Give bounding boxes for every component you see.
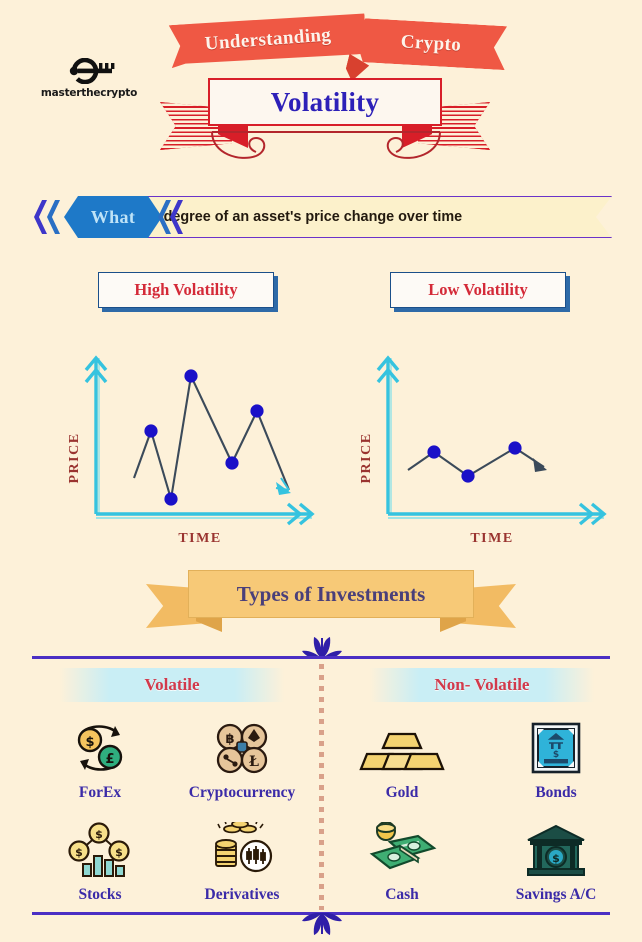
svg-text:$: $: [552, 852, 560, 865]
investment-gold: Gold: [338, 716, 466, 802]
investment-forex-label: ForEx: [36, 784, 164, 802]
svg-text:£: £: [105, 752, 114, 767]
currency-exchange-icon: $ £: [36, 716, 164, 778]
column-heading-non-volatile: Non- Volatile: [370, 668, 594, 702]
chart-low-volatility: Low Volatility PRICE TIME: [352, 272, 642, 552]
page-title: Volatility: [208, 78, 442, 126]
chart-low-plot: PRICE TIME: [352, 318, 642, 552]
investment-stocks-label: Stocks: [36, 886, 164, 904]
svg-text:$: $: [553, 750, 559, 760]
column-heading-volatile-text: Volatile: [144, 675, 199, 695]
chart-low-ylabel: PRICE: [359, 432, 374, 483]
gold-bars-icon: [338, 716, 466, 778]
investment-gold-label: Gold: [338, 784, 466, 802]
stock-chart-coins-icon: $ $ $: [36, 818, 164, 880]
ribbon-crypto: Crypto: [355, 18, 507, 70]
header-ribbons: Understanding Crypto: [170, 12, 490, 68]
investment-derivatives: Derivatives: [178, 818, 306, 904]
brand-name: masterthecrypto: [34, 87, 144, 99]
column-heading-volatile: Volatile: [60, 668, 284, 702]
infographic-page: masterthecrypto Understanding Crypto Vol…: [0, 0, 642, 942]
svg-text:$: $: [115, 846, 123, 859]
investment-forex: $ £ ForEx: [36, 716, 164, 802]
investment-cryptocurrency: ฿ Ł Cryptocurrency: [178, 716, 306, 802]
types-banner-title: Types of Investments: [237, 582, 426, 607]
ribbon-understanding-label: Understanding: [204, 24, 332, 55]
what-row: The degree of an asset's price change ov…: [30, 196, 612, 238]
types-banner-main: Types of Investments: [188, 570, 474, 618]
banknotes-icon: [338, 818, 466, 880]
types-banner: Types of Investments: [146, 568, 516, 630]
page-title-text: Volatility: [271, 87, 380, 118]
bank-building-icon: $: [492, 818, 620, 880]
chevron-left-inner-icon: [47, 200, 60, 234]
investment-bonds-label: Bonds: [492, 784, 620, 802]
svg-text:Ł: Ł: [249, 754, 259, 770]
chart-low-label: Low Volatility: [390, 272, 566, 308]
vertical-dotted-divider: [319, 664, 324, 910]
divider-top: [32, 656, 610, 659]
investment-savings-label: Savings A/C: [492, 886, 620, 904]
crypto-coins-icon: ฿ Ł: [178, 716, 306, 778]
investment-savings-account: $ Savings A/C: [492, 818, 620, 904]
what-definition: The degree of an asset's price change ov…: [134, 196, 462, 238]
fan-ornament-bottom-icon: [300, 913, 344, 935]
brand-logo: masterthecrypto: [34, 56, 144, 99]
chart-high-plot: PRICE TIME: [60, 318, 350, 552]
investment-bonds: $ Bonds: [492, 716, 620, 802]
svg-text:$: $: [85, 735, 94, 750]
bond-certificate-icon: $: [492, 716, 620, 778]
chevron-left-outer-icon: [34, 200, 47, 234]
ribbon-understanding: Understanding: [169, 11, 368, 68]
chart-low-xlabel: TIME: [470, 531, 513, 546]
what-definition-text: The degree of an asset's price change ov…: [134, 209, 462, 225]
chart-high-xlabel: TIME: [178, 531, 221, 546]
investment-cash: Cash: [338, 818, 466, 904]
chart-high-label-text: High Volatility: [134, 280, 237, 300]
chart-high-ylabel: PRICE: [67, 432, 82, 483]
chart-low-label-text: Low Volatility: [428, 280, 527, 300]
svg-text:$: $: [75, 846, 83, 859]
what-badge: What: [64, 196, 162, 238]
ribbon-crypto-label: Crypto: [400, 31, 462, 56]
investment-stocks: $ $ $ Stocks: [36, 818, 164, 904]
chart-high-volatility: High Volatility PRICE TIME: [60, 272, 350, 552]
investment-cash-label: Cash: [338, 886, 466, 904]
key-icon: [34, 56, 144, 86]
investment-derivatives-label: Derivatives: [178, 886, 306, 904]
candlestick-coins-icon: [178, 818, 306, 880]
svg-text:$: $: [95, 828, 103, 841]
what-badge-label: What: [91, 207, 136, 228]
investment-cryptocurrency-label: Cryptocurrency: [178, 784, 306, 802]
chart-high-label: High Volatility: [98, 272, 274, 308]
decorative-curl: [206, 128, 446, 168]
title-banner: Volatility: [160, 76, 490, 166]
svg-text:฿: ฿: [225, 732, 234, 747]
column-heading-non-volatile-text: Non- Volatile: [435, 675, 530, 695]
